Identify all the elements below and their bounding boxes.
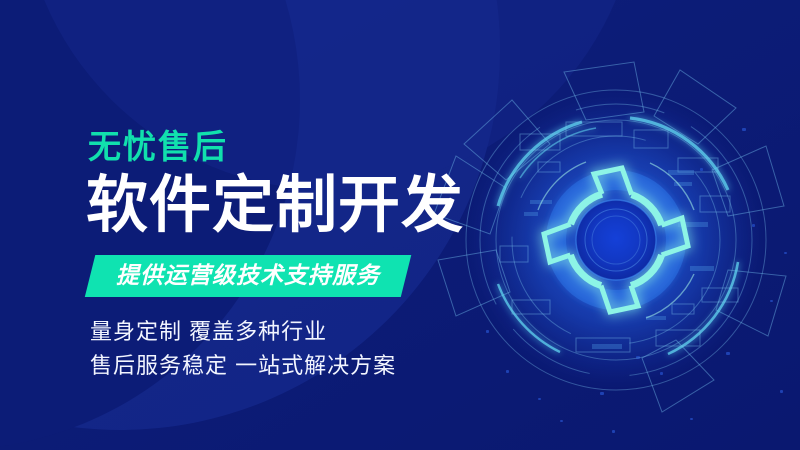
promo-banner: 无忧售后 软件定制开发 提供运营级技术支持服务 量身定制 覆盖多种行业 售后服务… xyxy=(0,0,800,450)
page-title: 软件定制开发 xyxy=(86,175,486,237)
feature-line-2: 售后服务稳定 一站式解决方案 xyxy=(90,349,486,383)
tech-circle-graphic xyxy=(432,56,800,424)
eyebrow-text: 无忧售后 xyxy=(88,130,486,163)
feature-line-1: 量身定制 覆盖多种行业 xyxy=(90,315,486,349)
service-badge: 提供运营级技术支持服务 xyxy=(90,255,406,297)
badge-label: 提供运营级技术支持服务 xyxy=(90,255,406,297)
banner-copy: 无忧售后 软件定制开发 提供运营级技术支持服务 量身定制 覆盖多种行业 售后服务… xyxy=(86,130,486,383)
feature-list: 量身定制 覆盖多种行业 售后服务稳定 一站式解决方案 xyxy=(90,315,486,383)
